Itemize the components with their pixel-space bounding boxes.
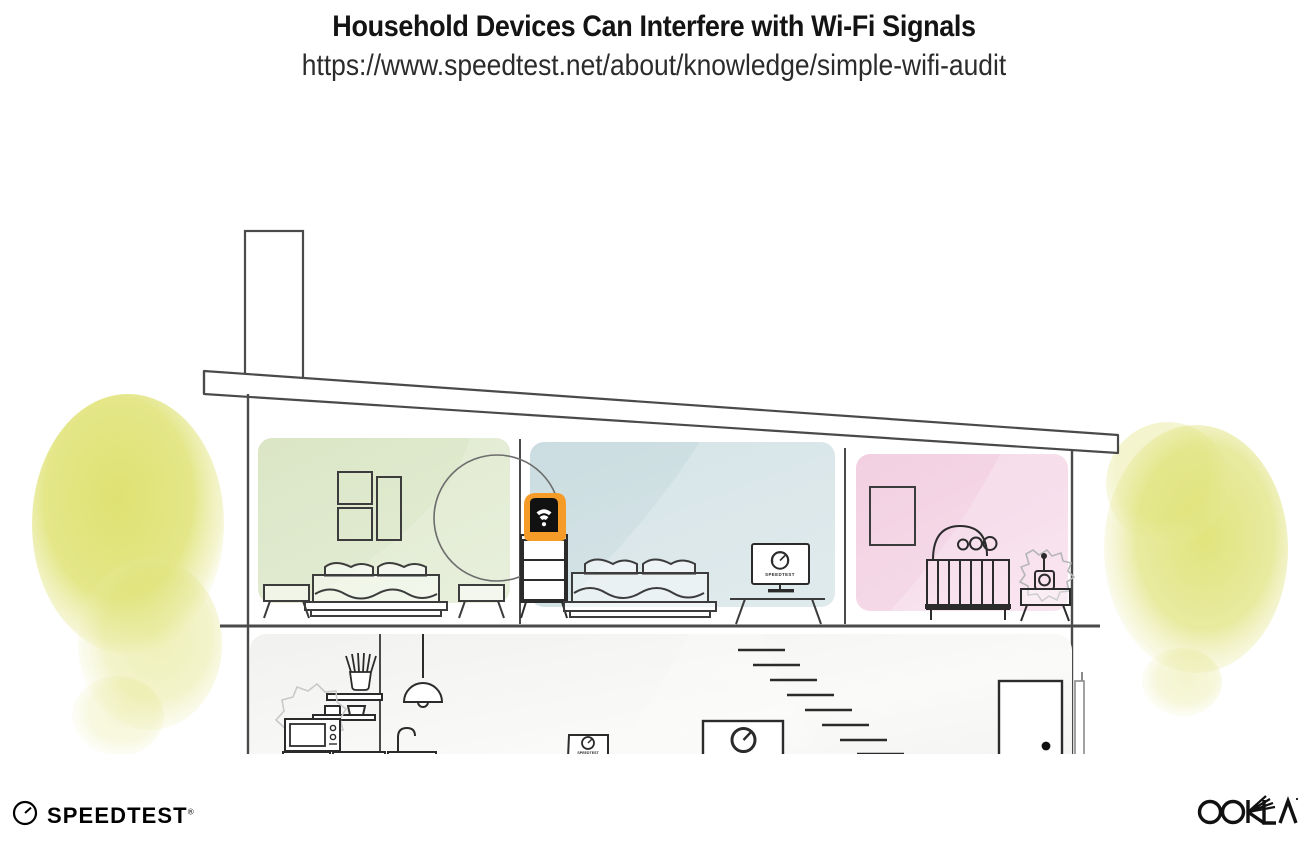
- speedtest-wordmark: SPEEDTEST®: [47, 803, 194, 829]
- foliage-left: [32, 394, 224, 754]
- header: Household Devices Can Interfere with Wi-…: [0, 0, 1308, 86]
- front-door[interactable]: [999, 681, 1062, 754]
- monitor-screen-label: SPEEDTEST: [765, 572, 795, 577]
- kitchen-shelf-upper: [327, 694, 382, 700]
- source-url: https://www.speedtest.net/about/knowledg…: [78, 46, 1229, 86]
- kitchen-cabinets: [283, 752, 436, 754]
- laptop[interactable]: SPEEDTEST: [560, 735, 614, 754]
- poster-root: Household Devices Can Interfere with Wi-…: [0, 0, 1308, 861]
- footer: SPEEDTEST®: [0, 761, 1308, 861]
- nightstand-left-green: [264, 585, 309, 618]
- speedtest-gauge-icon: [12, 800, 38, 831]
- registered-mark: ®: [188, 807, 194, 816]
- door-knob-icon: [1042, 742, 1051, 751]
- page-title: Household Devices Can Interfere with Wi-…: [65, 8, 1242, 46]
- chimney: [245, 231, 303, 386]
- ookla-logo: [1196, 790, 1300, 835]
- speedtest-logo: SPEEDTEST®: [12, 800, 194, 831]
- downspout: [1075, 672, 1084, 754]
- television[interactable]: SPEEDTEST: [703, 721, 783, 754]
- ookla-wordmark-icon: [1196, 790, 1300, 830]
- wifi-router[interactable]: [524, 493, 566, 541]
- nursery-table: [1021, 589, 1070, 621]
- house-illustration: SPEEDTEST: [0, 104, 1308, 754]
- foliage-right: [1104, 422, 1288, 716]
- nightstand-right-green: [459, 585, 504, 618]
- laptop-screen-label: SPEEDTEST: [577, 751, 599, 754]
